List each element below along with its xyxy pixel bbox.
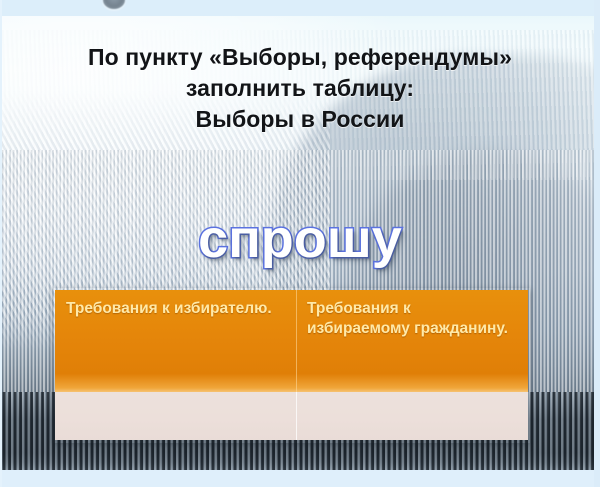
- title-line-3: Выборы в России: [0, 104, 600, 135]
- requirements-table: Требования к избирателю. Требования к из…: [55, 290, 528, 440]
- slide-border-bottom: [0, 470, 600, 487]
- slide-title: По пункту «Выборы, референдумы» заполнит…: [0, 42, 600, 135]
- title-line-1: По пункту «Выборы, референдумы»: [0, 42, 600, 73]
- table-header-cell-candidate: Требования к избираемому гражданину.: [296, 290, 528, 392]
- table-header-row: Требования к избирателю. Требования к из…: [55, 290, 528, 392]
- title-line-2: заполнить таблицу:: [0, 73, 600, 104]
- presentation-slide: По пункту «Выборы, референдумы» заполнит…: [0, 0, 600, 487]
- table-header-cell-voter: Требования к избирателю.: [55, 290, 296, 392]
- table-cell-candidate-answer[interactable]: [296, 392, 528, 440]
- table-row: [55, 392, 528, 440]
- slide-border-top: [0, 0, 600, 16]
- table-cell-voter-answer[interactable]: [55, 392, 296, 440]
